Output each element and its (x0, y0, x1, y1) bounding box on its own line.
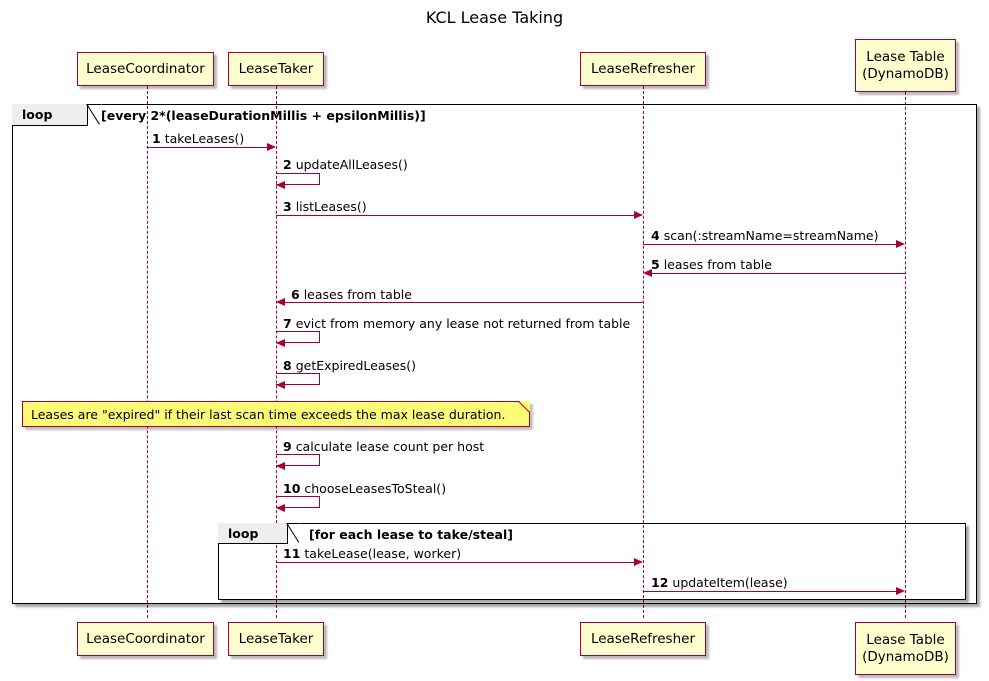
participant-leasecoordinator-bottom-label: LeaseCoordinator (86, 631, 205, 648)
participant-leaserefresher-top[interactable]: LeaseRefresher (580, 52, 706, 86)
participant-leasetaker-bottom-label: LeaseTaker (239, 631, 314, 648)
participant-leasetable-bottom[interactable]: Lease Table (DynamoDB) (855, 622, 956, 675)
message-11-number: 11 (283, 546, 300, 561)
message-7-label: 7 evict from memory any lease not return… (283, 316, 630, 331)
participant-leasetable-top-label: Lease Table (866, 49, 944, 66)
message-12-number: 12 (651, 575, 668, 590)
participant-leaserefresher-bottom-label: LeaseRefresher (591, 631, 695, 648)
participant-leaserefresher-top-label: LeaseRefresher (591, 61, 695, 78)
message-5-line (652, 273, 905, 274)
frame-inner-loop-tab-label: loop (228, 526, 258, 541)
message-8-text: getExpiredLeases() (296, 358, 416, 373)
participant-leasetable-top[interactable]: Lease Table (DynamoDB) (855, 39, 956, 92)
message-2-arrowhead (276, 181, 285, 189)
message-10-number: 10 (283, 481, 300, 496)
message-3-number: 3 (283, 199, 292, 214)
message-2-number: 2 (283, 157, 292, 172)
message-5-text: leases from table (664, 257, 772, 272)
message-12-label: 12 updateItem(lease) (651, 575, 788, 590)
message-1-arrowhead (267, 143, 276, 151)
participant-leasetaker-top[interactable]: LeaseTaker (228, 52, 324, 86)
message-11-line (276, 562, 635, 563)
message-8-arrowhead (276, 381, 285, 389)
message-8-label: 8 getExpiredLeases() (283, 358, 416, 373)
message-7-number: 7 (283, 316, 292, 331)
message-10-arrowhead (276, 504, 285, 512)
message-9-text: calculate lease count per host (296, 439, 484, 454)
message-6-arrowhead (276, 298, 285, 306)
message-1-label: 1 takeLeases() (152, 131, 244, 146)
message-1-line (147, 147, 268, 148)
participant-leaserefresher-bottom[interactable]: LeaseRefresher (580, 622, 706, 656)
message-5-arrowhead (643, 269, 652, 277)
message-3-text: listLeases() (296, 199, 367, 214)
message-10-label: 10 chooseLeasesToSteal() (283, 481, 446, 496)
sequence-diagram-canvas: KCL Lease Taking loop [every 2*(leaseDur… (0, 0, 989, 681)
message-6-label: 6 leases from table (291, 287, 412, 302)
note-expired-leases-text: Leases are "expired" if their last scan … (31, 407, 505, 422)
message-4-text: scan(:streamName=streamName) (664, 228, 879, 243)
message-3-label: 3 listLeases() (283, 199, 367, 214)
message-4-number: 4 (651, 228, 660, 243)
participant-leasetable-top-sublabel: (DynamoDB) (862, 66, 949, 83)
message-1-number: 1 (152, 131, 161, 146)
message-1-text: takeLeases() (165, 131, 245, 146)
participant-leasetaker-bottom[interactable]: LeaseTaker (228, 622, 324, 656)
participant-leasetable-bottom-sublabel: (DynamoDB) (862, 649, 949, 666)
message-9-label: 9 calculate lease count per host (283, 439, 484, 454)
message-8-number: 8 (283, 358, 292, 373)
message-11-text: takeLease(lease, worker) (304, 546, 461, 561)
message-9-number: 9 (283, 439, 292, 454)
participant-leasecoordinator-top[interactable]: LeaseCoordinator (77, 52, 214, 86)
message-6-number: 6 (291, 287, 300, 302)
frame-outer-loop-tab: loop (12, 104, 88, 126)
message-6-line (285, 302, 643, 303)
diagram-title: KCL Lease Taking (0, 8, 989, 27)
message-5-number: 5 (651, 257, 660, 272)
participant-leasetable-bottom-label: Lease Table (866, 632, 944, 649)
message-7-text: evict from memory any lease not returned… (296, 316, 631, 331)
participant-leasetaker-top-label: LeaseTaker (239, 61, 314, 78)
participant-leasecoordinator-bottom[interactable]: LeaseCoordinator (77, 622, 214, 656)
message-2-label: 2 updateAllLeases() (283, 157, 408, 172)
message-5-label: 5 leases from table (651, 257, 772, 272)
message-6-text: leases from table (304, 287, 412, 302)
message-12-arrowhead (896, 587, 905, 595)
frame-inner-loop-tab-notch-edge (286, 523, 311, 545)
message-4-arrowhead (896, 240, 905, 248)
message-3-line (276, 215, 635, 216)
message-9-arrowhead (276, 462, 285, 470)
frame-outer-loop-condition: [every 2*(leaseDurationMillis + epsilonM… (101, 108, 426, 123)
message-12-text: updateItem(lease) (672, 575, 787, 590)
message-10-text: chooseLeasesToSteal() (304, 481, 446, 496)
frame-inner-loop-condition: [for each lease to take/steal] (309, 527, 513, 542)
message-3-arrowhead (634, 211, 643, 219)
frame-outer-loop-tab-label: loop (22, 107, 52, 122)
message-4-label: 4 scan(:streamName=streamName) (651, 228, 878, 243)
participant-leasecoordinator-top-label: LeaseCoordinator (86, 61, 205, 78)
frame-inner-loop-tab: loop (218, 523, 288, 544)
message-4-line (643, 244, 897, 245)
message-2-text: updateAllLeases() (296, 157, 408, 172)
message-11-arrowhead (634, 558, 643, 566)
message-11-label: 11 takeLease(lease, worker) (283, 546, 461, 561)
message-12-line (643, 591, 897, 592)
note-expired-leases: Leases are "expired" if their last scan … (22, 401, 530, 427)
message-7-arrowhead (276, 339, 285, 347)
